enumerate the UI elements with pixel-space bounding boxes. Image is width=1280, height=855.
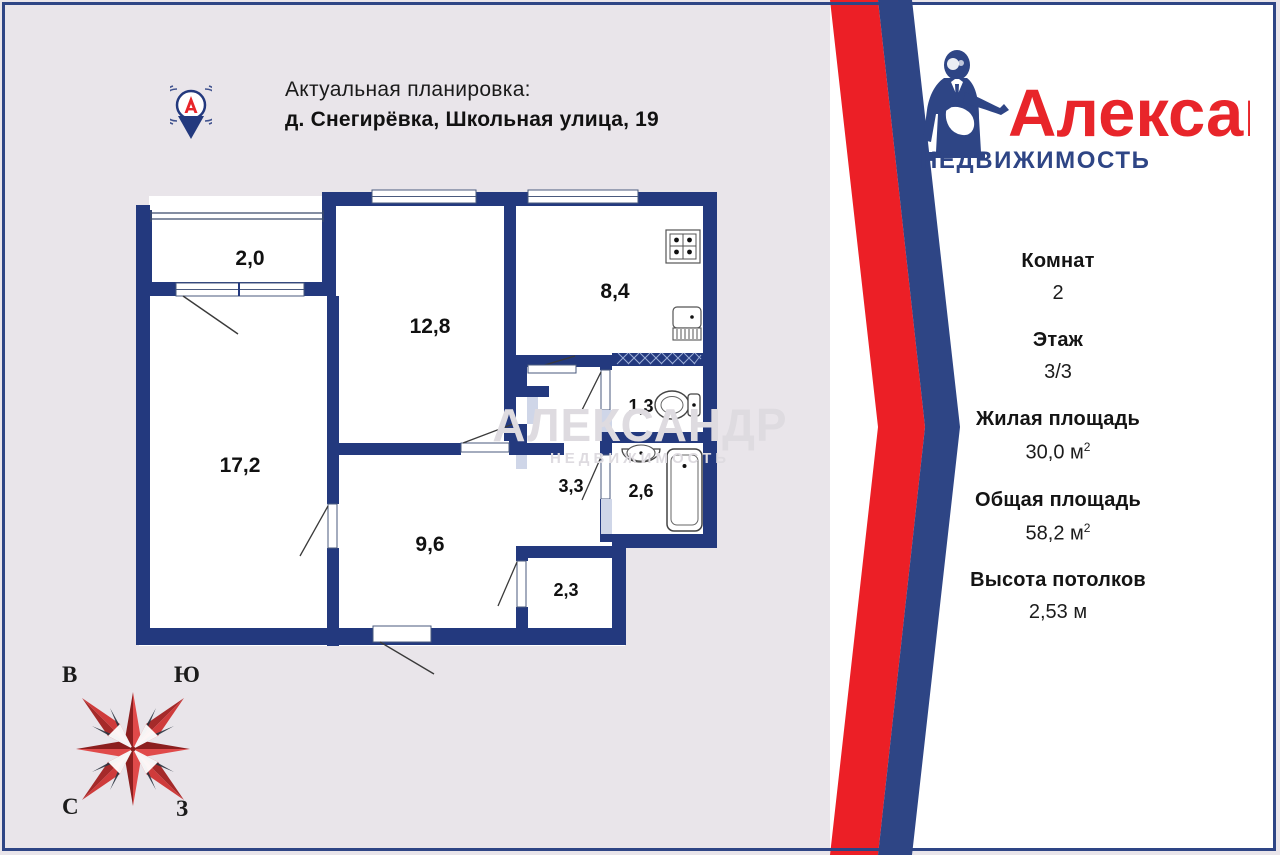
kitchen-sink-icon [673, 307, 701, 340]
stat-living-area: Жилая площадь 30,0 м2 [838, 408, 1278, 465]
compass-rose: В Ю С З [52, 662, 224, 832]
room-area-toilet: 1,3 [628, 396, 653, 416]
brand-subtitle: НЕДВИЖИМОСТЬ [920, 147, 1150, 174]
realtor-figure-icon [923, 50, 1009, 158]
brand-name: Александр [1008, 76, 1250, 151]
toilet-icon [655, 391, 700, 419]
stat-value: 2 [838, 282, 1278, 305]
bathtub-icon [667, 449, 702, 531]
stat-value: 30,0 м2 [838, 440, 1278, 465]
stat-label: Высота потолков [838, 569, 1278, 592]
stat-total-area: Общая площадь 58,2 м2 [838, 489, 1278, 546]
map-pin-icon [170, 82, 212, 140]
room-area-balcony: 2,0 [235, 247, 264, 270]
stat-label: Этаж [838, 329, 1278, 352]
stat-label: Жилая площадь [838, 408, 1278, 431]
compass-star-icon [68, 684, 198, 814]
stat-label: Общая площадь [838, 489, 1278, 512]
stat-ceiling-height: Высота потолков 2,53 м [838, 569, 1278, 624]
stat-label: Комнат [838, 250, 1278, 273]
plan-walls [136, 190, 720, 674]
room-area-storage: 2,3 [553, 580, 578, 600]
stat-value: 3/3 [838, 361, 1278, 384]
room-area-bathroom: 2,6 [628, 481, 653, 501]
room-area-bedroom: 9,6 [415, 533, 444, 556]
stat-floor: Этаж 3/3 [838, 329, 1278, 384]
stove-icon [666, 230, 700, 263]
room-area-room-12-8: 12,8 [410, 315, 451, 338]
plan-caption: Актуальная планировка: [285, 78, 659, 102]
stat-value: 2,53 м [838, 601, 1278, 624]
room-area-living-room: 17,2 [220, 454, 261, 477]
stat-value: 58,2 м2 [838, 521, 1278, 546]
plan-address: д. Снегирёвка, Школьная улица, 19 [285, 108, 659, 132]
property-stats: Комнат 2 Этаж 3/3 Жилая площадь 30,0 м2 … [838, 250, 1278, 648]
stat-rooms: Комнат 2 [838, 250, 1278, 305]
brand-logo: Александр НЕДВИЖИМОСТЬ [905, 48, 1250, 183]
room-area-hallway: 3,3 [558, 476, 583, 496]
room-area-kitchen: 8,4 [600, 280, 630, 303]
